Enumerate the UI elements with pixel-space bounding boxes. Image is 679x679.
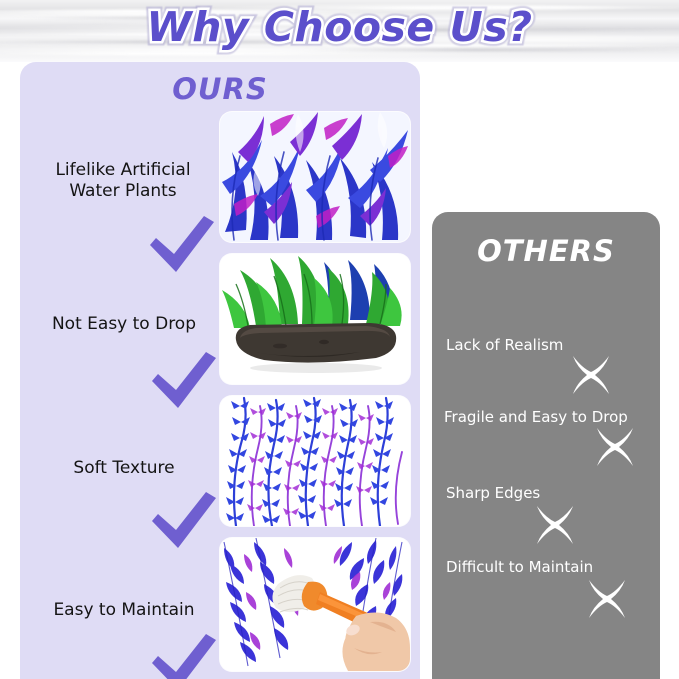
check-mark-icon: [148, 350, 220, 417]
ours-row-label: Not Easy to Drop: [26, 314, 222, 335]
cross-mark-icon: [532, 502, 578, 553]
soft-purple-feathery-plant-stems-photo: [220, 396, 410, 526]
cross-mark-icon: [584, 576, 630, 627]
ours-row-label: Easy to Maintain: [28, 600, 220, 621]
ours-row-label: Soft Texture: [34, 458, 214, 479]
others-panel: OTHERS Lack of Realism Fragile and Easy …: [432, 212, 660, 679]
others-row-label: Lack of Realism: [446, 336, 563, 354]
others-panel-title: OTHERS: [432, 234, 660, 268]
why-choose-us-comparison-graphic: Why Choose Us? Why Choose Us? OURS Lifel…: [0, 0, 679, 679]
purple-blue-artificial-water-plants-photo: [220, 112, 410, 242]
green-plants-on-driftwood-base-photo: [220, 254, 410, 384]
cross-mark-icon: [592, 424, 638, 475]
check-mark-icon: [148, 490, 220, 557]
others-row-label: Difficult to Maintain: [446, 558, 593, 576]
ours-panel: OURS Lifelike Artificial Water Plants: [20, 62, 420, 679]
ours-panel-title: OURS: [20, 72, 420, 106]
others-row-label: Sharp Edges: [446, 484, 540, 502]
check-mark-icon: [146, 214, 218, 281]
cross-mark-icon: [568, 352, 614, 403]
page-title: Why Choose Us?: [0, 3, 679, 51]
check-mark-icon: [148, 632, 220, 679]
ours-row-label: Lifelike Artificial Water Plants: [28, 160, 218, 203]
hand-brushing-purple-plant-photo: [220, 538, 410, 671]
